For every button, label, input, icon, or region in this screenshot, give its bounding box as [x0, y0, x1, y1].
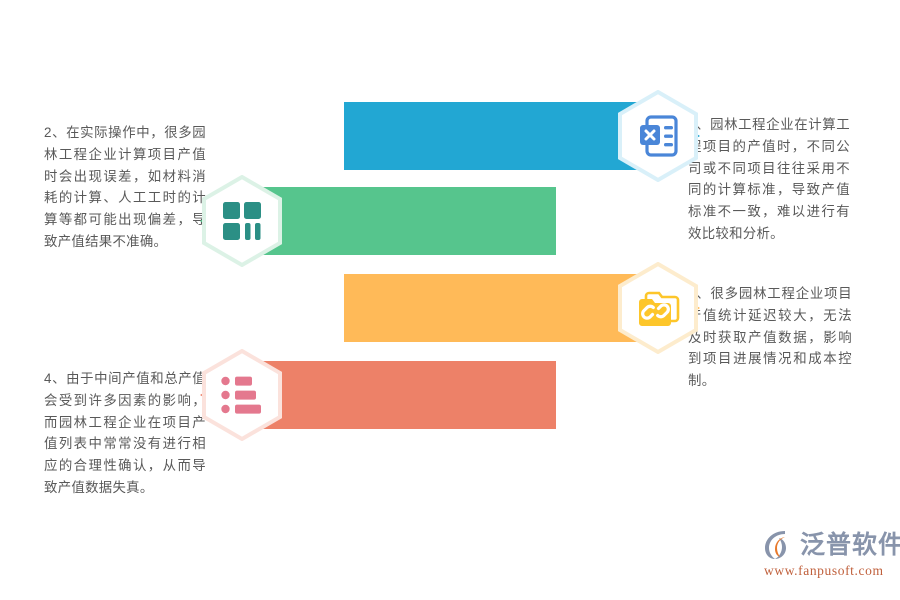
brand-url: www.fanpusoft.com [764, 563, 890, 579]
hex-badge-2[interactable] [200, 175, 284, 267]
text-block-1: 1、园林工程企业在计算工程项目的产值时，不同公司或不同项目往往采用不同的计算标准… [688, 114, 850, 245]
arrow-row-2[interactable] [222, 187, 556, 255]
dashboard-grid-icon [200, 175, 284, 267]
text-block-4: 4、由于中间产值和总产值会受到许多因素的影响，而园林工程企业在项目产值列表中常常… [44, 368, 206, 499]
hex-badge-3[interactable] [616, 262, 700, 354]
arrow-row-1[interactable] [344, 102, 678, 170]
bulleted-list-icon [200, 349, 284, 441]
hex-badge-1[interactable] [616, 90, 700, 182]
brand-name: 泛普软件 [800, 528, 900, 562]
arrow-row-4[interactable] [222, 361, 556, 429]
arrow-row-3[interactable] [344, 274, 678, 342]
infographic-canvas: 2、在实际操作中，很多园林工程企业计算项目产值时会出现误差，如材料消耗的计算、人… [0, 0, 900, 600]
brand-logo: 泛普软件 www.fanpusoft.com [762, 528, 890, 582]
linked-files-icon [616, 262, 700, 354]
text-block-3: 3、很多园林工程企业项目产值统计延迟较大，无法及时获取产值数据，影响到项目进展情… [688, 283, 852, 392]
hex-badge-4[interactable] [200, 349, 284, 441]
contact-card-icon [616, 90, 700, 182]
text-block-2: 2、在实际操作中，很多园林工程企业计算项目产值时会出现误差，如材料消耗的计算、人… [44, 122, 206, 253]
fanpu-logo-mark [762, 528, 796, 562]
